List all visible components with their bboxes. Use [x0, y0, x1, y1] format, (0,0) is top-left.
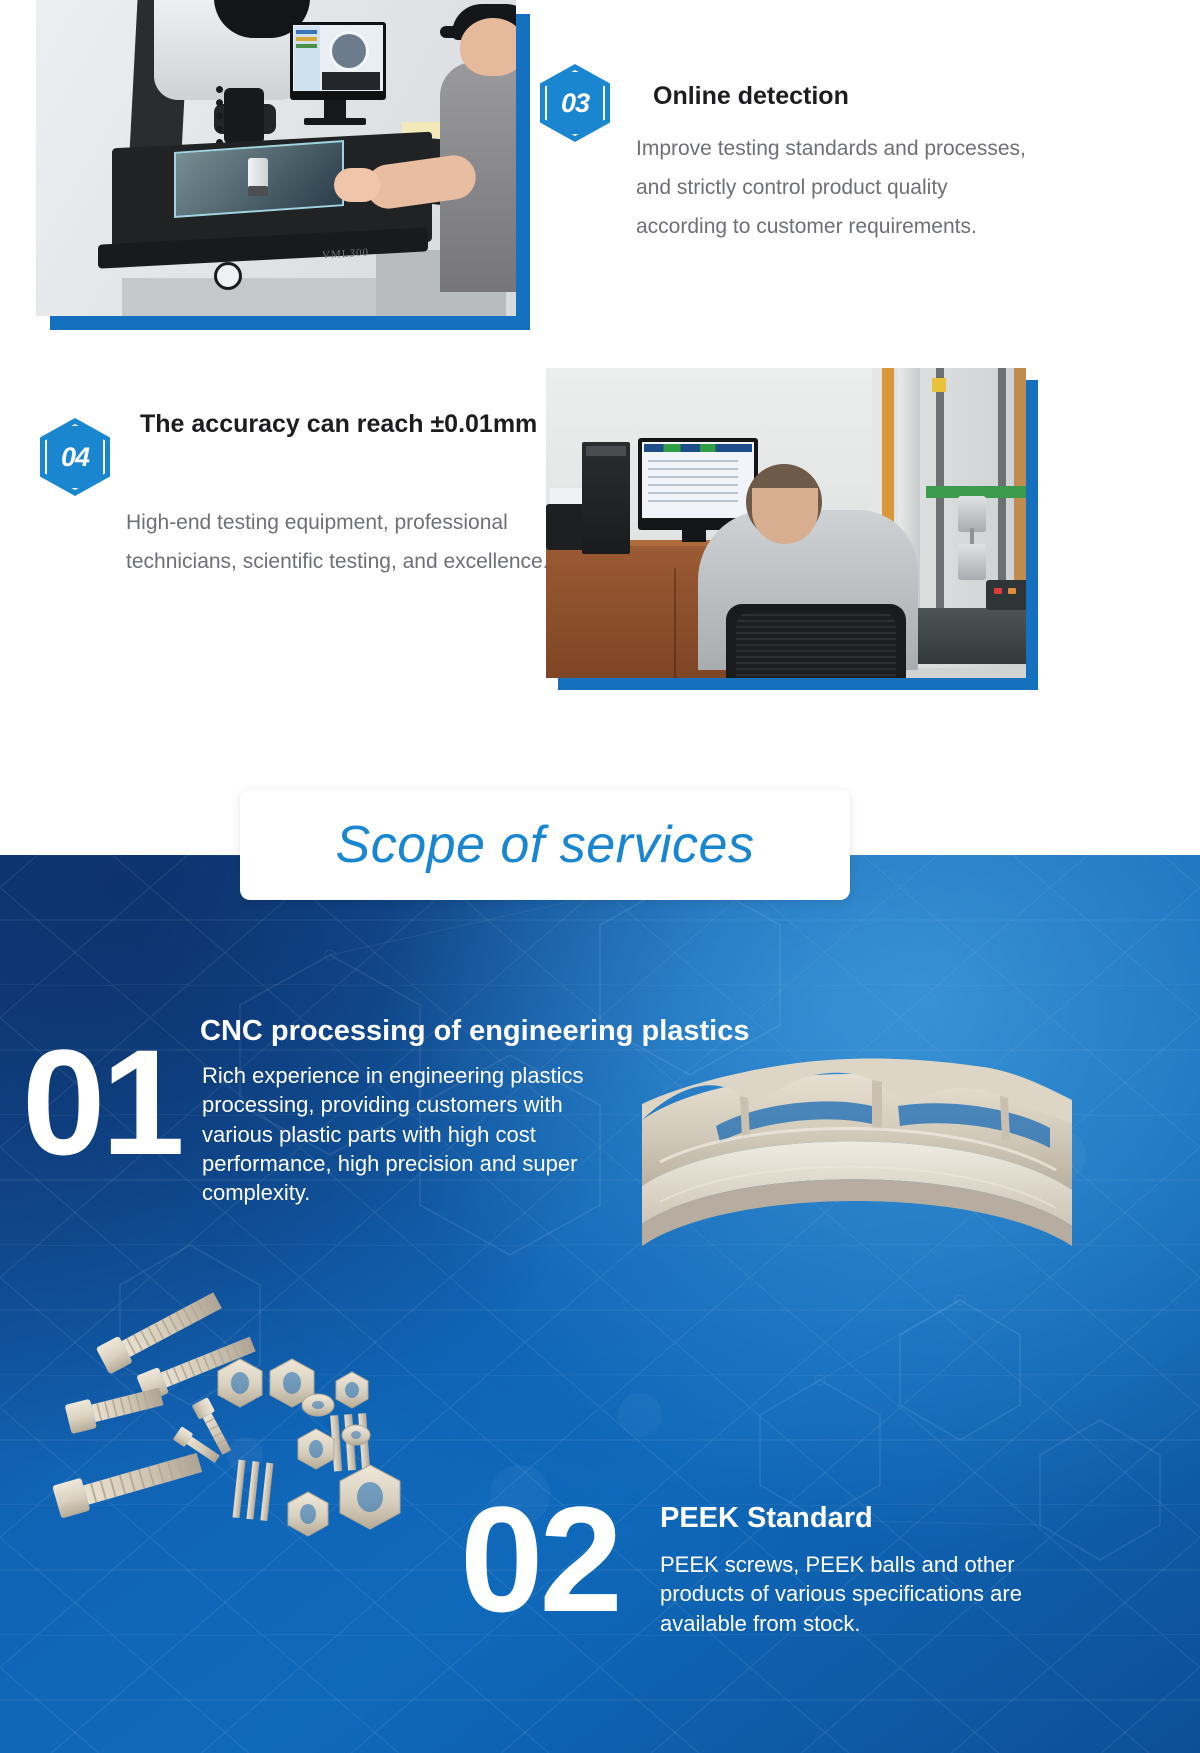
- photo-optical-measuring-machine: VML300: [36, 0, 516, 316]
- top-features-section: VML300 03 Online detection Improve testi…: [0, 0, 1200, 855]
- photo-frame-accuracy: [546, 368, 1038, 690]
- badge-number: 03: [540, 64, 610, 142]
- scope-title-plate: Scope of services: [240, 790, 850, 900]
- feature-body: Improve testing standards and processes,…: [636, 130, 1026, 247]
- feature-title: The accuracy can reach ±0.01mm: [140, 408, 540, 442]
- image-peek-machined-part: [620, 1040, 1090, 1280]
- item-title: PEEK Standard: [660, 1502, 1160, 1535]
- hexagon-badge-icon: 04: [40, 418, 110, 496]
- photo-frame-online-detection: VML300: [36, 0, 530, 330]
- photo2-illustration: [546, 368, 1026, 678]
- photo1-illustration: VML300: [36, 0, 516, 316]
- image-peek-screws-and-nuts: [40, 1275, 460, 1555]
- item-number: 01: [22, 1033, 181, 1171]
- service-item-02: 02 PEEK Standard PEEK screws, PEEK balls…: [440, 1480, 1200, 1740]
- feature-title: Online detection: [653, 80, 1053, 114]
- badge-number: 04: [40, 418, 110, 496]
- item-body: Rich experience in engineering plastics …: [202, 1061, 632, 1207]
- item-number: 02: [460, 1490, 619, 1628]
- page-title: Scope of services: [336, 815, 755, 875]
- item-body: PEEK screws, PEEK balls and other produc…: [660, 1550, 1070, 1638]
- service-item-01: 01 CNC processing of engineering plastic…: [0, 1015, 660, 1275]
- feature-body: High-end testing equipment, professional…: [126, 504, 556, 582]
- photo-tensile-testing-machine: [546, 368, 1026, 678]
- item-title: CNC processing of engineering plastics: [200, 1015, 940, 1048]
- hexagon-badge-icon: 03: [540, 64, 610, 142]
